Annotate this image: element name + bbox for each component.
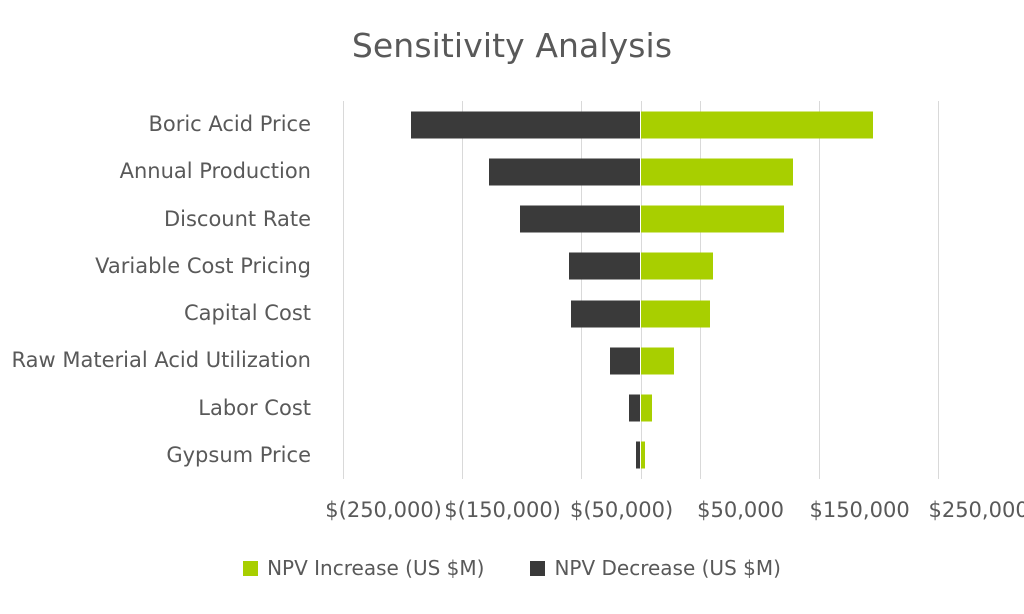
bar-npv-increase[interactable]	[641, 206, 785, 233]
category-label-1: Boric Acid Price	[0, 101, 311, 148]
legend-item-1[interactable]: NPV Increase (US $M)	[243, 556, 484, 580]
bar-npv-increase[interactable]	[641, 158, 793, 185]
plot-area	[343, 101, 938, 479]
category-label-2: Annual Production	[0, 148, 311, 195]
gridline-5	[938, 101, 939, 479]
bar-npv-decrease[interactable]	[569, 253, 640, 280]
x-tick-label-1: $(250,000)	[325, 498, 442, 522]
x-axis-tick-labels: $(250,000)$(150,000)$(50,000)$50,000$150…	[0, 498, 1024, 532]
chart-title: Sensitivity Analysis	[0, 26, 1024, 65]
bar-npv-decrease[interactable]	[610, 347, 641, 374]
category-label-3: Discount Rate	[0, 196, 311, 243]
bar-npv-decrease[interactable]	[411, 111, 641, 138]
bar-rows	[343, 101, 938, 479]
bar-row	[343, 148, 938, 195]
x-tick-label-5: $150,000	[809, 498, 909, 522]
bar-npv-increase[interactable]	[641, 111, 873, 138]
category-axis: Boric Acid PriceAnnual ProductionDiscoun…	[0, 101, 327, 479]
bar-npv-increase[interactable]	[641, 253, 714, 280]
bar-npv-increase[interactable]	[641, 300, 710, 327]
legend-swatch-icon	[243, 561, 258, 576]
category-label-5: Capital Cost	[0, 290, 311, 337]
bar-npv-decrease[interactable]	[571, 300, 640, 327]
x-tick-label-6: $250,000	[928, 498, 1024, 522]
x-tick-label-2: $(150,000)	[444, 498, 561, 522]
bar-row	[343, 101, 938, 148]
bar-row	[343, 196, 938, 243]
category-label-7: Labor Cost	[0, 385, 311, 432]
bar-row	[343, 385, 938, 432]
bar-npv-decrease[interactable]	[520, 206, 640, 233]
legend-label: NPV Increase (US $M)	[267, 556, 484, 580]
bar-npv-decrease[interactable]	[489, 158, 640, 185]
category-label-4: Variable Cost Pricing	[0, 243, 311, 290]
chart-legend: NPV Increase (US $M)NPV Decrease (US $M)	[0, 556, 1024, 580]
bar-npv-increase[interactable]	[641, 347, 674, 374]
bar-npv-increase[interactable]	[641, 442, 646, 469]
legend-item-2[interactable]: NPV Decrease (US $M)	[530, 556, 780, 580]
x-tick-label-4: $50,000	[697, 498, 784, 522]
bar-row	[343, 432, 938, 479]
category-label-6: Raw Material Acid Utilization	[0, 337, 311, 384]
legend-label: NPV Decrease (US $M)	[554, 556, 780, 580]
sensitivity-analysis-chart: Sensitivity Analysis Boric Acid PriceAnn…	[0, 0, 1024, 614]
legend-swatch-icon	[530, 561, 545, 576]
bar-row	[343, 337, 938, 384]
category-label-8: Gypsum Price	[0, 432, 311, 479]
x-tick-label-3: $(50,000)	[570, 498, 673, 522]
bar-row	[343, 290, 938, 337]
bar-row	[343, 243, 938, 290]
bar-npv-decrease[interactable]	[629, 395, 641, 422]
bar-npv-increase[interactable]	[641, 395, 653, 422]
